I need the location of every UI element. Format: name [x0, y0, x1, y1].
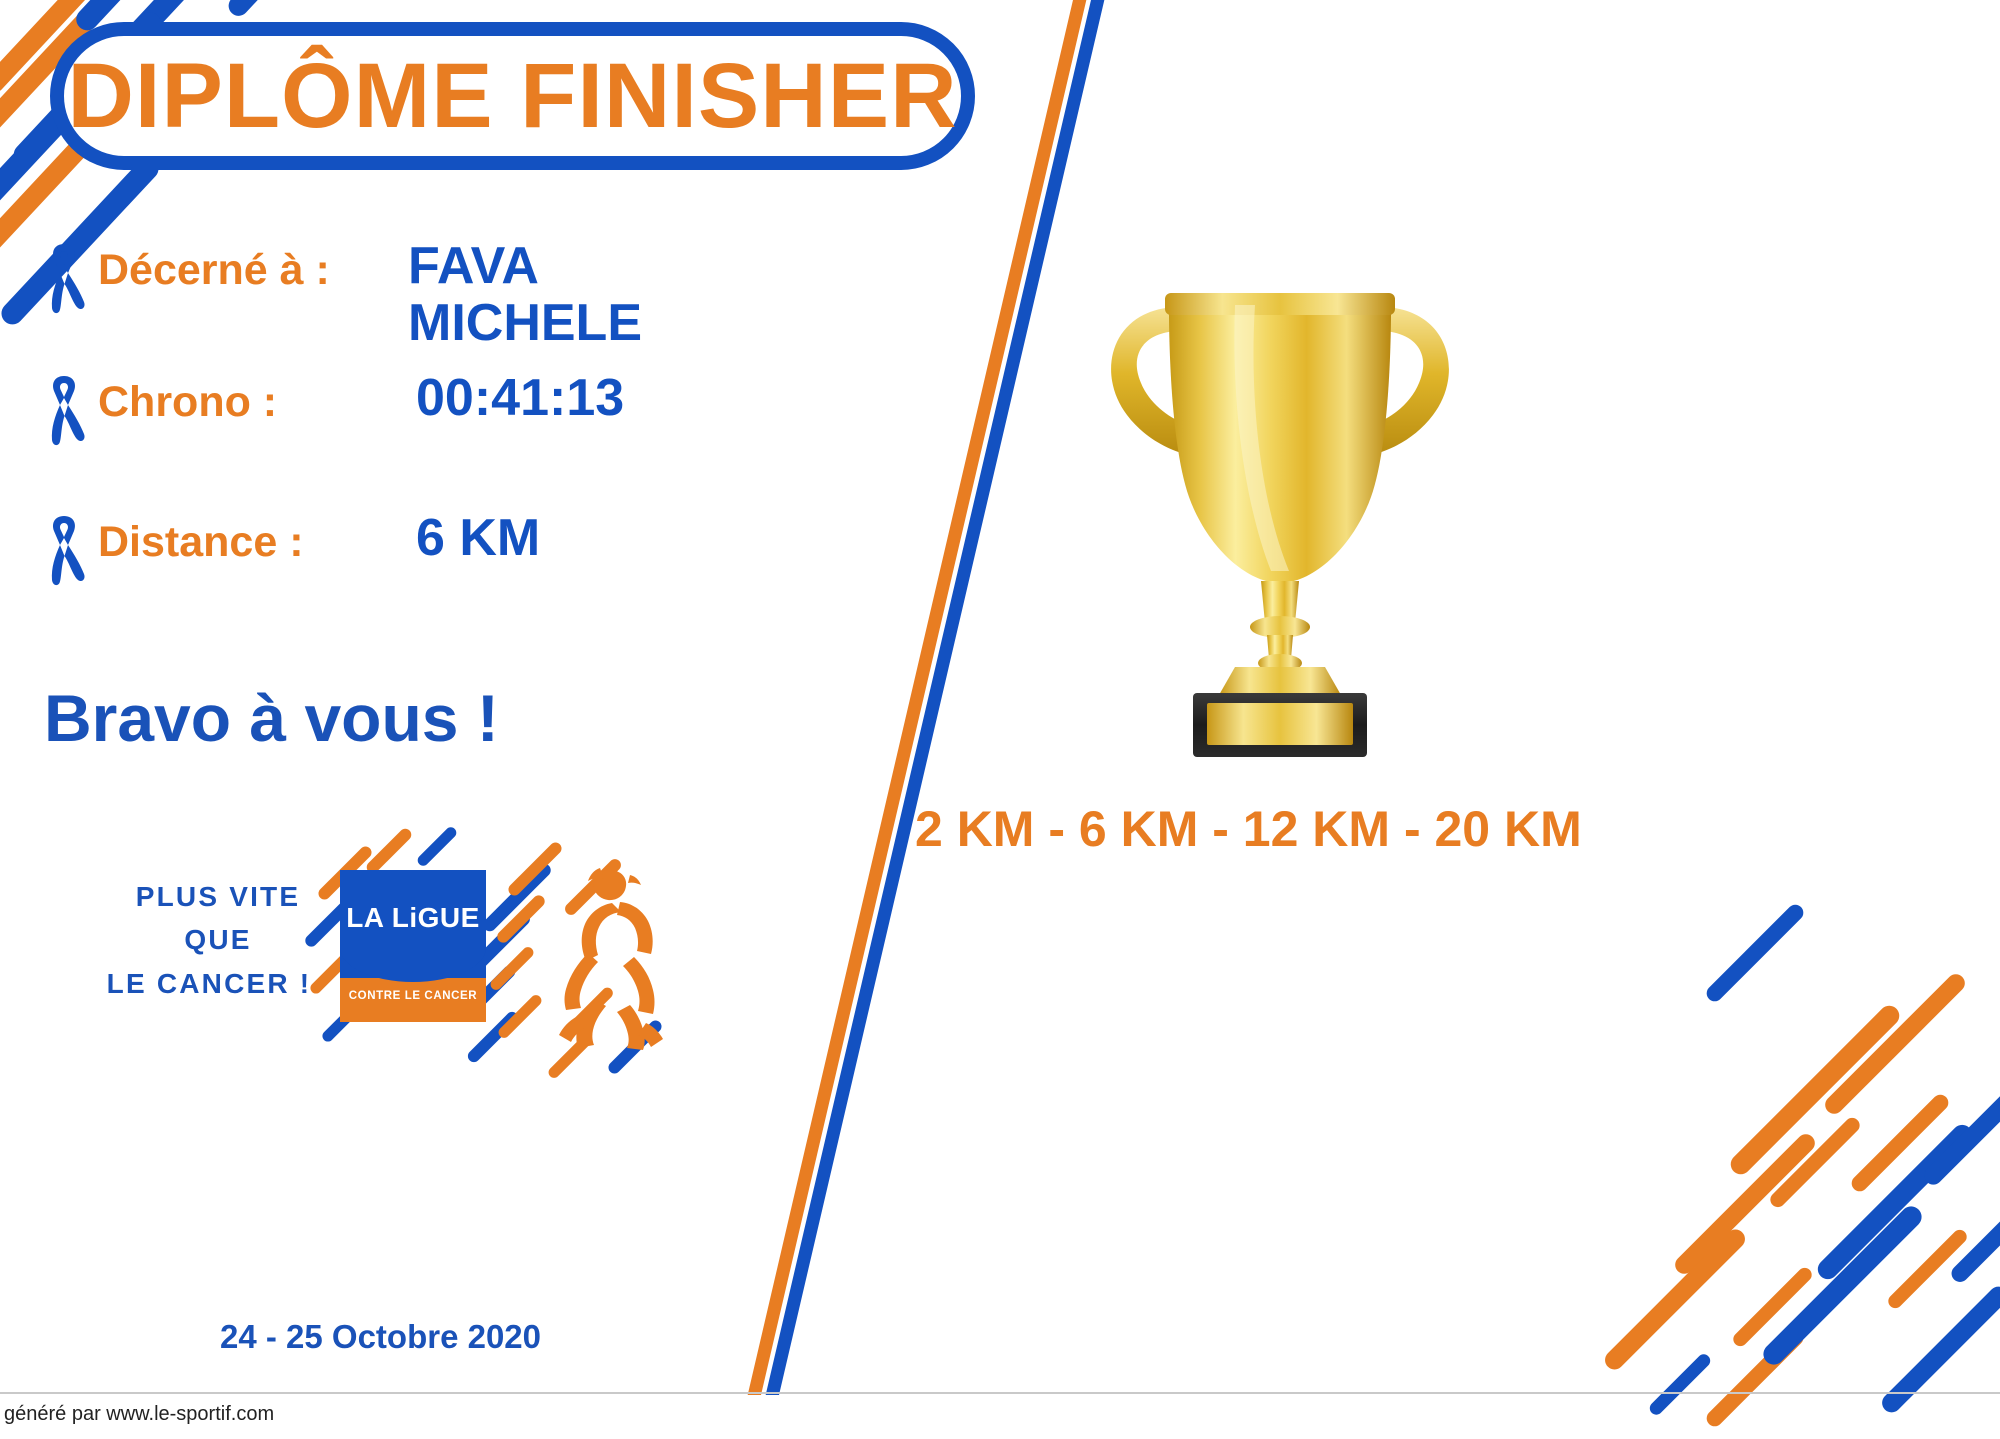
event-date: 24 - 25 Octobre 2020 — [220, 1318, 541, 1356]
congratulations-text: Bravo à vous ! — [44, 680, 499, 756]
result-fields: Décerné à : FAVA MICHELE Chrono : 00:41:… — [40, 238, 740, 598]
slogan-line-3: LE CANCER ! — [70, 962, 348, 1005]
field-label-chrono: Chrono : — [98, 370, 408, 425]
runner-icon — [542, 865, 672, 1050]
field-value-distance: 6 KM — [408, 510, 540, 567]
diploma-canvas: DIPLÔME FINISHER Décerné à : FAVA MICHEL… — [0, 0, 2000, 1439]
field-row-recipient: Décerné à : FAVA MICHELE — [40, 238, 740, 352]
field-row-chrono: Chrono : 00:41:13 — [40, 370, 740, 448]
field-value-recipient: FAVA MICHELE — [408, 238, 642, 352]
la-ligue-logo: LA LiGUE CONTRE LE CANCER — [340, 870, 486, 1022]
ribbon-icon — [40, 374, 88, 448]
field-label-distance: Distance : — [98, 510, 408, 565]
field-row-distance: Distance : 6 KM — [40, 510, 740, 588]
ribbon-icon — [40, 514, 88, 588]
trophy-icon — [1085, 275, 1475, 765]
slogan-line-2: QUE — [88, 918, 348, 961]
footer-credit: généré par www.le-sportif.com — [4, 1403, 274, 1426]
field-value-chrono: 00:41:13 — [408, 370, 624, 427]
field-label-recipient: Décerné à : — [98, 238, 408, 293]
logo-wordmark: LA LiGUE — [340, 902, 486, 934]
page-title: DIPLÔME FINISHER — [67, 50, 957, 142]
slogan-line-1: PLUS VITE — [88, 875, 348, 918]
footer-divider — [0, 1392, 2000, 1394]
ligue-branding: PLUS VITE QUE LE CANCER ! LA LiGUE CONTR… — [60, 855, 700, 1085]
race-distances: 2 KM - 6 KM - 12 KM - 20 KM — [915, 800, 1975, 858]
ribbon-icon — [40, 242, 88, 316]
logo-tagline: CONTRE LE CANCER — [340, 990, 486, 1002]
diploma-title-frame: DIPLÔME FINISHER — [50, 22, 975, 170]
slogan: PLUS VITE QUE LE CANCER ! — [88, 875, 348, 1005]
